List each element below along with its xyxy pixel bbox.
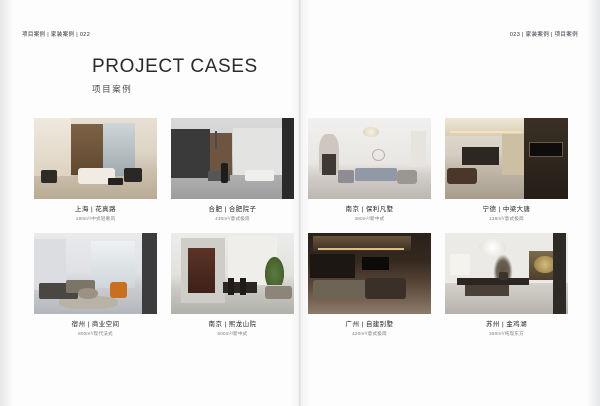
case-subtitle: 138m²/意式极简	[445, 215, 568, 223]
case-card[interactable]: 宁德 | 中梁大唐 138m²/意式极简	[445, 118, 568, 223]
case-subtitle: 800m²/现代法式	[34, 330, 157, 338]
case-title: 宁德 | 中梁大唐	[445, 205, 568, 214]
case-title: 南京 | 熙龙山院	[171, 320, 294, 329]
case-caption: 苏州 | 金鸡湖 360m²/纯现东方	[445, 320, 568, 338]
case-subtitle: 360m²/纯现东方	[445, 330, 568, 338]
case-title: 宿州 | 商业空间	[34, 320, 157, 329]
case-caption: 南京 | 熙龙山院 500m²/新中式	[171, 320, 294, 338]
case-caption: 合肥 | 合肥院子 430m²/意式极简	[171, 205, 294, 223]
case-thumbnail[interactable]	[34, 118, 157, 199]
case-title: 上海 | 花真路	[34, 205, 157, 214]
interior-photo-icon	[171, 233, 294, 314]
case-caption: 上海 | 花真路 180m²/中式轻奢风	[34, 205, 157, 223]
interior-photo-icon	[308, 233, 431, 314]
interior-photo-icon	[445, 233, 568, 314]
case-card[interactable]: 广州 | 自建别墅 420m²/意式极简	[308, 233, 431, 338]
interior-photo-icon	[34, 233, 157, 314]
case-title: 南京 | 保利凡墅	[308, 205, 431, 214]
case-caption: 南京 | 保利凡墅 380m²/新中式	[308, 205, 431, 223]
case-thumbnail[interactable]	[308, 233, 431, 314]
case-grid: 上海 | 花真路 180m²/中式轻奢风 合肥 | 合肥院子 430m²/意式极…	[34, 118, 569, 338]
case-thumbnail[interactable]	[171, 233, 294, 314]
case-subtitle: 180m²/中式轻奢风	[34, 215, 157, 223]
case-card[interactable]: 宿州 | 商业空间 800m²/现代法式	[34, 233, 157, 338]
interior-photo-icon	[308, 118, 431, 199]
case-card[interactable]: 南京 | 熙龙山院 500m²/新中式	[171, 233, 294, 338]
case-title: 苏州 | 金鸡湖	[445, 320, 568, 329]
case-thumbnail[interactable]	[34, 233, 157, 314]
case-card[interactable]: 南京 | 保利凡墅 380m²/新中式	[308, 118, 431, 223]
running-header-left: 项目案例 | 家装案例 | 022	[22, 30, 90, 38]
portfolio-page-spread: 项目案例 | 家装案例 | 022 023 | 家装案例 | 项目案例 PROJ…	[0, 0, 600, 406]
case-title: 广州 | 自建别墅	[308, 320, 431, 329]
case-subtitle: 500m²/新中式	[171, 330, 294, 338]
page-title-cn: 项目案例	[92, 83, 258, 95]
page-title-block: PROJECT CASES 项目案例	[92, 56, 258, 95]
case-title: 合肥 | 合肥院子	[171, 205, 294, 214]
page-title-en: PROJECT CASES	[92, 56, 258, 78]
case-subtitle: 430m²/意式极简	[171, 215, 294, 223]
interior-photo-icon	[34, 118, 157, 199]
case-thumbnail[interactable]	[445, 118, 568, 199]
case-subtitle: 380m²/新中式	[308, 215, 431, 223]
case-subtitle: 420m²/意式极简	[308, 330, 431, 338]
running-header-right: 023 | 家装案例 | 项目案例	[510, 30, 578, 38]
case-card[interactable]: 苏州 | 金鸡湖 360m²/纯现东方	[445, 233, 568, 338]
case-caption: 宁德 | 中梁大唐 138m²/意式极简	[445, 205, 568, 223]
case-card[interactable]: 合肥 | 合肥院子 430m²/意式极简	[171, 118, 294, 223]
interior-photo-icon	[445, 118, 568, 199]
case-thumbnail[interactable]	[308, 118, 431, 199]
case-caption: 广州 | 自建别墅 420m²/意式极简	[308, 320, 431, 338]
interior-photo-icon	[171, 118, 294, 199]
case-thumbnail[interactable]	[171, 118, 294, 199]
case-card[interactable]: 上海 | 花真路 180m²/中式轻奢风	[34, 118, 157, 223]
case-caption: 宿州 | 商业空间 800m²/现代法式	[34, 320, 157, 338]
case-thumbnail[interactable]	[445, 233, 568, 314]
